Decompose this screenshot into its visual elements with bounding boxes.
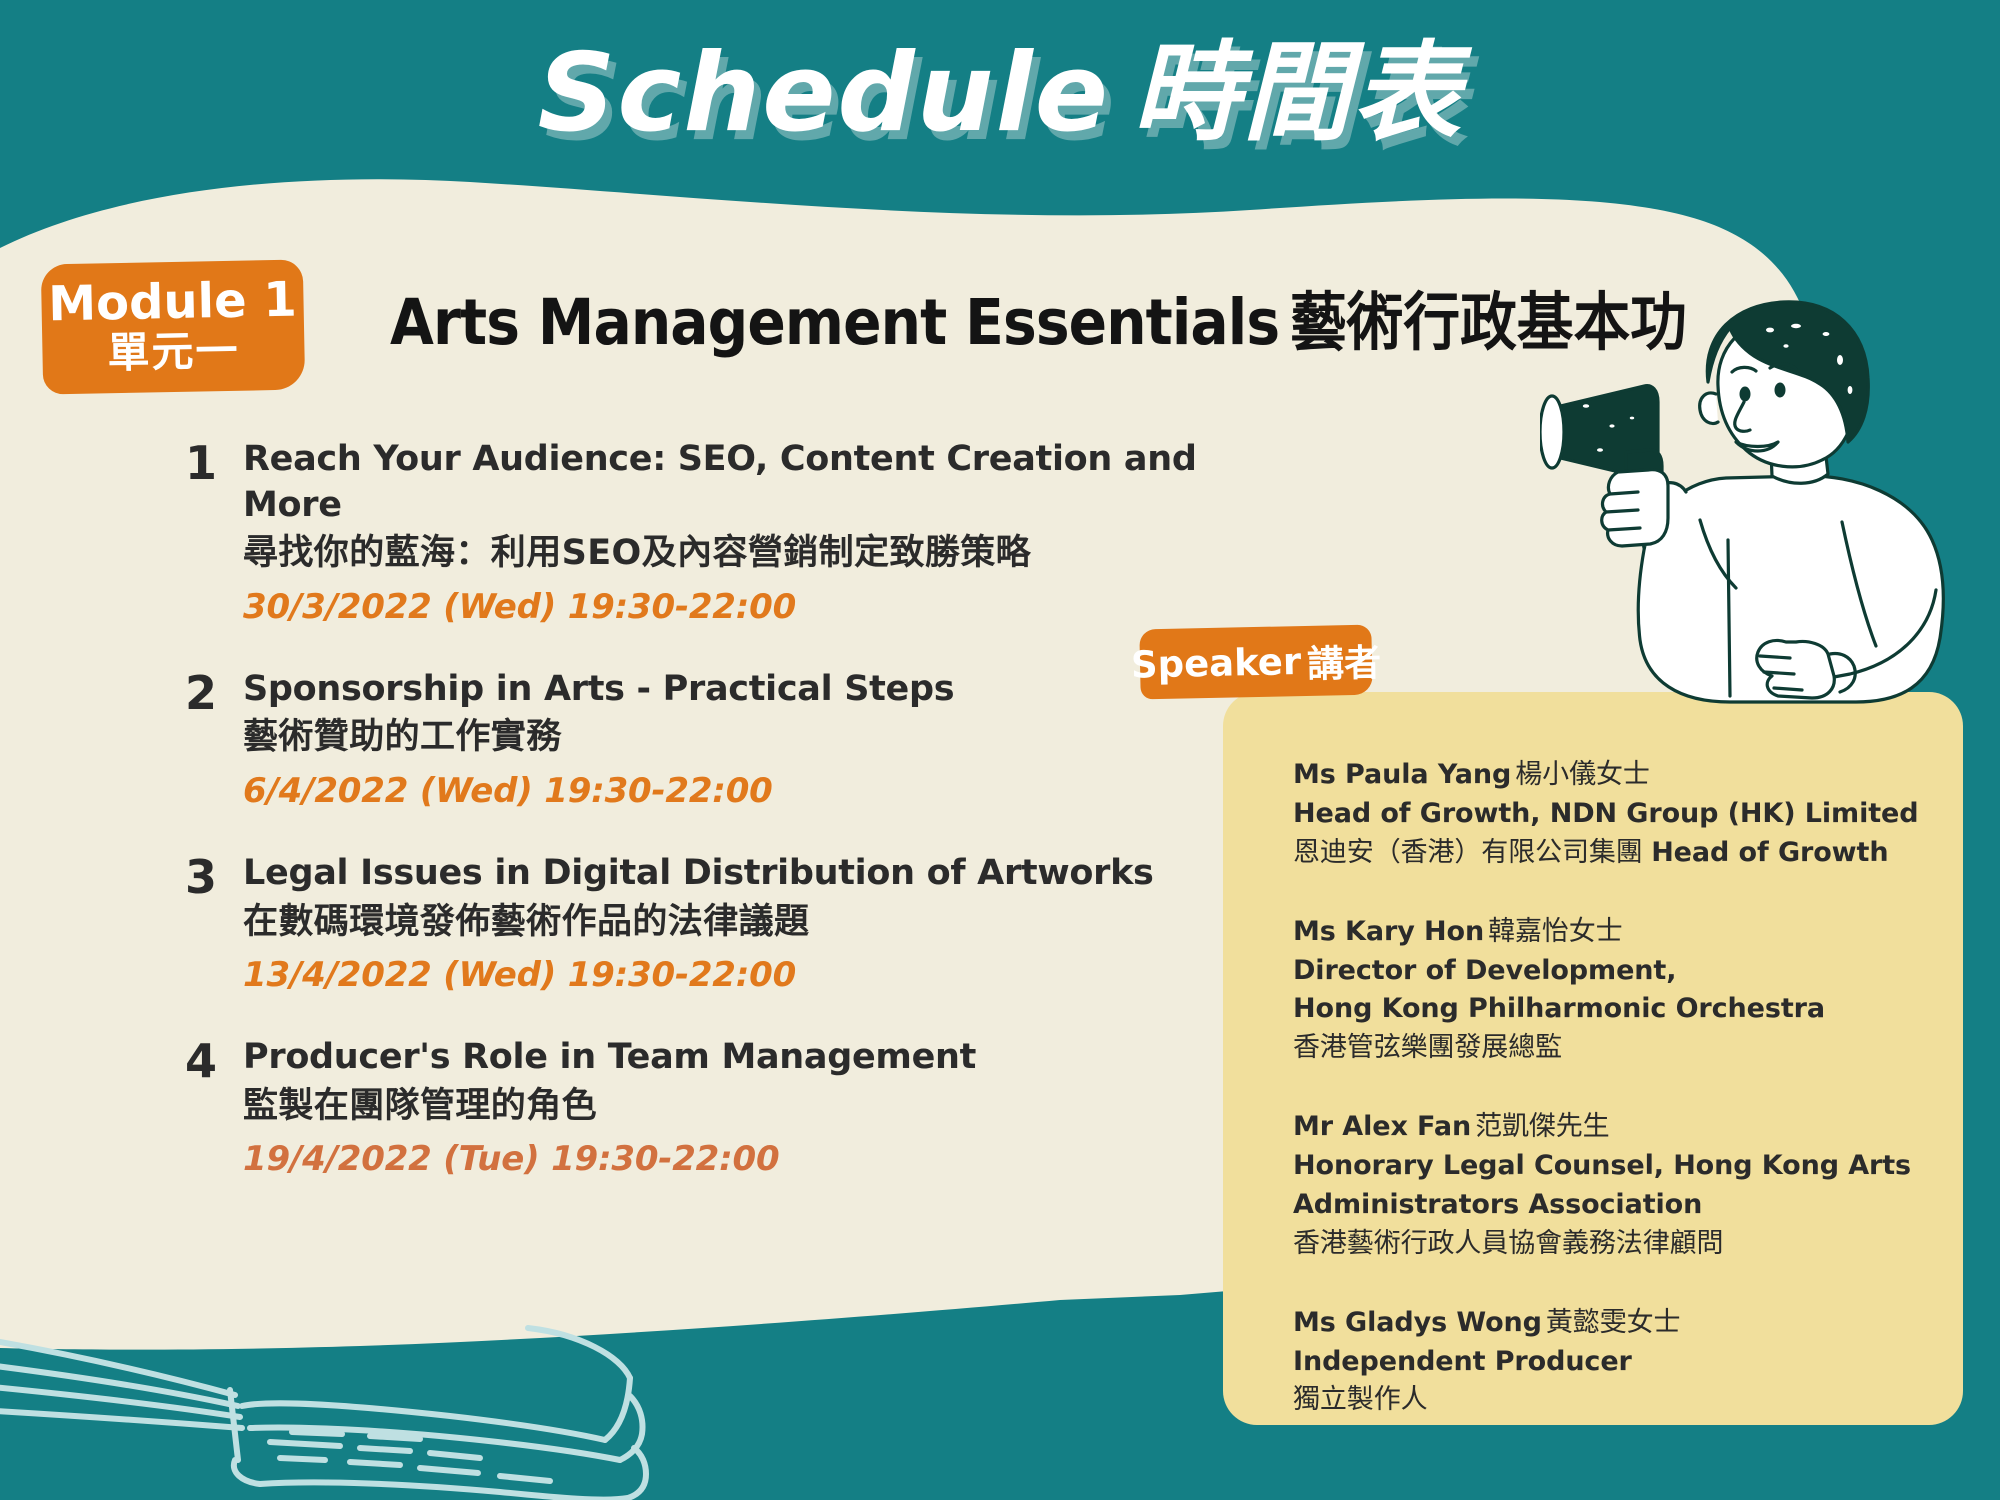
speaker-role-line: Hong Kong Philharmonic Orchestra — [1293, 990, 1963, 1029]
speaker-name: Ms Kary Hon韓嘉怡女士 — [1293, 913, 1963, 952]
session-number: 1 — [185, 437, 243, 490]
module-heading-english: Arts Management Essentials — [390, 286, 1279, 359]
session-item: 3 Legal Issues in Digital Distribution o… — [185, 851, 1205, 997]
session-title-english: Legal Issues in Digital Distribution of … — [243, 851, 1205, 897]
speaker-panel: Ms Paula Yang楊小儀女士 Head of Growth, NDN G… — [1223, 692, 1963, 1425]
session-item: 2 Sponsorship in Arts - Practical Steps … — [185, 667, 1205, 813]
speaker-badge: Speaker 講者 — [1139, 625, 1372, 700]
book-icon — [0, 1210, 700, 1500]
speaker-role-chinese: 香港管弦樂團發展總監 — [1293, 1029, 1963, 1068]
speaker-badge-chinese: 講者 — [1307, 632, 1382, 688]
session-datetime: 13/4/2022 (Wed) 19:30-22:00 — [243, 953, 1205, 997]
session-title-english: Reach Your Audience: SEO, Content Creati… — [243, 437, 1205, 528]
title-english: Schedule — [538, 32, 1110, 156]
module-badge-english: Module 1 — [48, 275, 297, 328]
speaker-role-chinese: 香港藝術行政人員協會義務法律顧問 — [1293, 1225, 1963, 1264]
speaker-role-line: Independent Producer — [1293, 1343, 1963, 1382]
session-number: 2 — [185, 667, 243, 720]
speaker-role-chinese: 恩迪安（香港）有限公司集團 Head of Growth — [1293, 834, 1963, 873]
session-datetime: 19/4/2022 (Tue) 19:30-22:00 — [243, 1137, 1205, 1181]
speaker-name: Mr Alex Fan范凱傑先生 — [1293, 1108, 1963, 1147]
speaker-role-line: Honorary Legal Counsel, Hong Kong Arts — [1293, 1147, 1963, 1186]
session-item: 1 Reach Your Audience: SEO, Content Crea… — [185, 437, 1205, 629]
speaker-entry: Ms Kary Hon韓嘉怡女士 Director of Development… — [1293, 913, 1963, 1069]
speaker-name: Ms Gladys Wong黃懿雯女士 — [1293, 1304, 1963, 1343]
session-number: 3 — [185, 851, 243, 904]
session-body: Producer's Role in Team Management 監製在團隊… — [243, 1035, 1205, 1181]
session-list: 1 Reach Your Audience: SEO, Content Crea… — [185, 437, 1205, 1182]
speaker-role-line: Head of Growth, NDN Group (HK) Limited — [1293, 795, 1963, 834]
module-badge: Module 1 單元一 — [41, 259, 305, 394]
session-body: Sponsorship in Arts - Practical Steps 藝術… — [243, 667, 1205, 813]
session-title-chinese: 監製在團隊管理的角色 — [243, 1083, 1205, 1131]
speaker-role-line: Director of Development, — [1293, 952, 1963, 991]
session-title-english: Sponsorship in Arts - Practical Steps — [243, 667, 1205, 713]
session-body: Legal Issues in Digital Distribution of … — [243, 851, 1205, 997]
speaker-entry: Ms Paula Yang楊小儀女士 Head of Growth, NDN G… — [1293, 756, 1963, 873]
session-title-english: Producer's Role in Team Management — [243, 1035, 1205, 1081]
session-title-chinese: 在數碼環境發佈藝術作品的法律議題 — [243, 899, 1205, 947]
session-datetime: 6/4/2022 (Wed) 19:30-22:00 — [243, 769, 1205, 813]
speaker-role-chinese: 獨立製作人 — [1293, 1381, 1963, 1420]
module-heading-chinese: 藝術行政基本功 — [1290, 286, 1687, 359]
session-number: 4 — [185, 1035, 243, 1088]
speaker-name: Ms Paula Yang楊小儀女士 — [1293, 756, 1963, 795]
session-title-chinese: 尋找你的藍海：利用SEO及內容營銷制定致勝策略 — [243, 530, 1205, 578]
module-badge-chinese: 單元一 — [107, 327, 240, 378]
open-book-illustration — [0, 1210, 700, 1500]
session-body: Reach Your Audience: SEO, Content Creati… — [243, 437, 1205, 629]
speaker-entry: Mr Alex Fan范凱傑先生 Honorary Legal Counsel,… — [1293, 1108, 1963, 1264]
speaker-badge-english: Speaker — [1130, 640, 1301, 687]
title-chinese: 時間表 — [1132, 32, 1462, 156]
session-datetime: 30/3/2022 (Wed) 19:30-22:00 — [243, 585, 1205, 629]
session-item: 4 Producer's Role in Team Management 監製在… — [185, 1035, 1205, 1181]
speaker-role-line: Administrators Association — [1293, 1186, 1963, 1225]
page-title: Schedule 時間表 — [0, 32, 2000, 156]
session-title-chinese: 藝術贊助的工作實務 — [243, 714, 1205, 762]
speaker-entry: Ms Gladys Wong黃懿雯女士 Independent Producer… — [1293, 1304, 1963, 1421]
module-heading: Arts Management Essentials藝術行政基本功 — [390, 272, 1831, 363]
